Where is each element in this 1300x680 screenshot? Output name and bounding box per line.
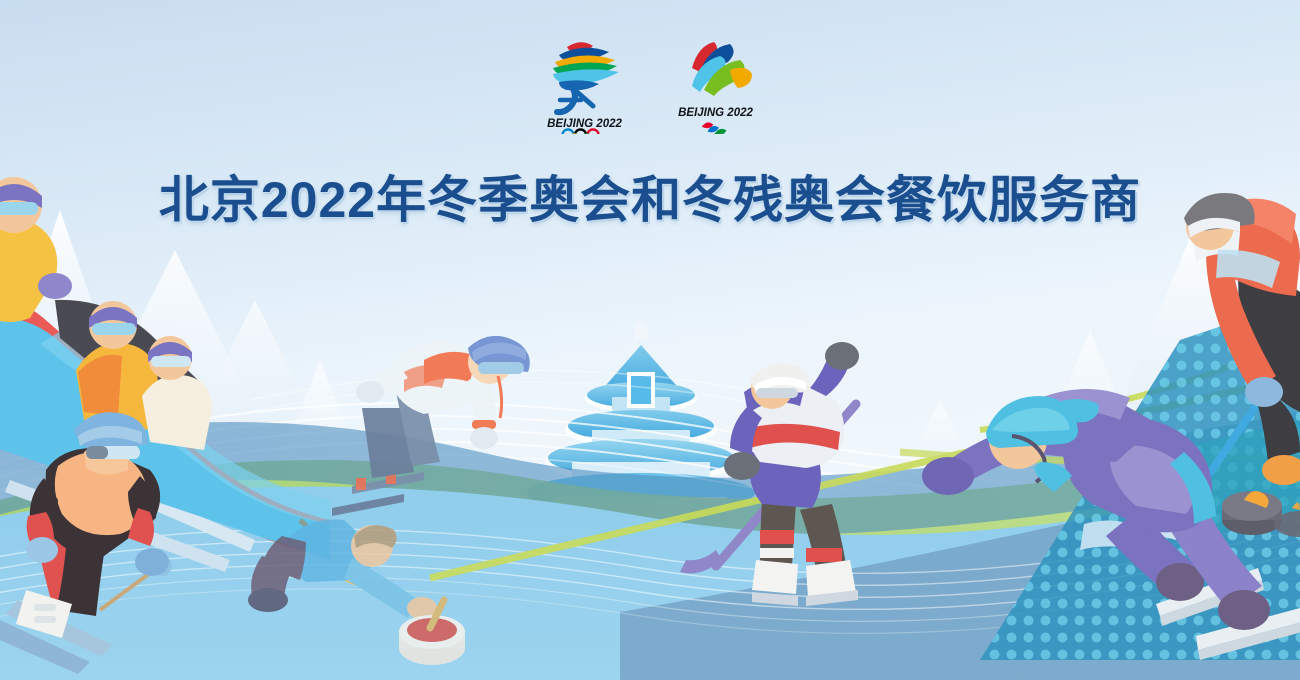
- olympic-rings-icon: [562, 129, 598, 134]
- curling-stone-red: [399, 600, 465, 665]
- bobsleigh-athlete-2: [76, 301, 158, 430]
- steel-ribbon: [620, 466, 1300, 680]
- curling-stone-yellow: [1222, 491, 1282, 535]
- paralympic-wordmark: BEIJING 2022: [678, 107, 753, 119]
- blue-ribbon: [0, 408, 1300, 536]
- white-lines: [0, 370, 1300, 526]
- bobsleigh-runners: [5, 455, 255, 572]
- bobsleigh-athlete-3: [142, 336, 212, 450]
- light-blue-wave: [0, 470, 1300, 680]
- paralympic-emblem-graphic: BEIJING 2022: [668, 34, 763, 134]
- lime-ribbon: [430, 330, 1300, 578]
- beijing-2022-paralympic-emblem: BEIJING 2022: [668, 34, 763, 134]
- olympic-wordmark: BEIJING 2022: [547, 118, 622, 130]
- emblem-row: BEIJING 2022: [0, 34, 1300, 134]
- page-title-wrap: 北京2022年冬季奥会和冬残奥会餐饮服务商: [0, 140, 1300, 260]
- olympic-emblem-graphic: BEIJING 2022: [537, 34, 632, 134]
- cockpit-shadow: [55, 300, 200, 404]
- winter-dream-ribbon: [553, 42, 619, 112]
- agitos-icon: [702, 122, 727, 134]
- beijing-2022-olympic-emblem: BEIJING 2022: [537, 34, 632, 134]
- leap-ribbon: [692, 42, 752, 96]
- sled-red-rail: [0, 299, 330, 556]
- sled-body: [0, 318, 330, 560]
- green-ribbon: [0, 440, 1300, 556]
- page-title: 北京2022年冬季奥会和冬残奥会餐饮服务商: [159, 174, 1141, 227]
- mountain-range-right: [880, 225, 1300, 520]
- olympic-banner: BEIJING 2022: [0, 0, 1300, 680]
- wave-ripple-lines: [0, 512, 1300, 633]
- curling-stone-yellow-2: [1274, 502, 1300, 537]
- curling-sheet: [1120, 420, 1300, 545]
